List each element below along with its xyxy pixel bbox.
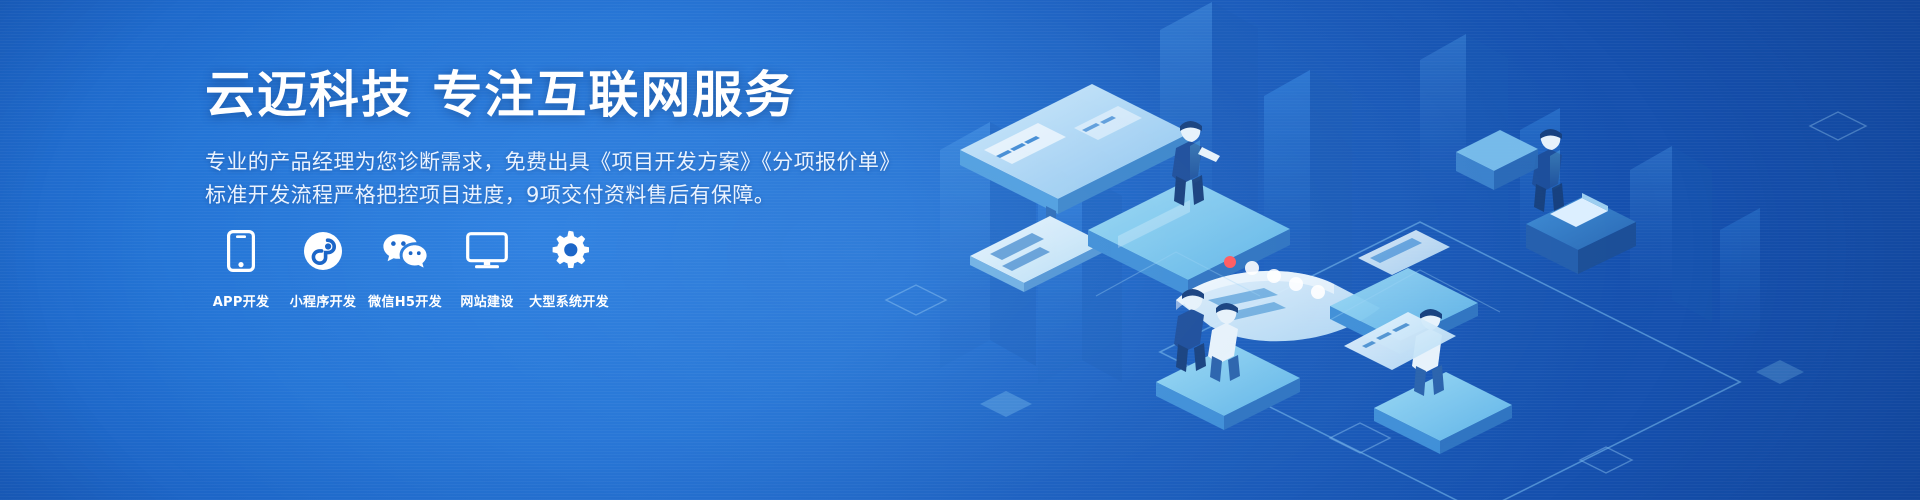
wechat-icon [382, 228, 428, 274]
service-label-mini-program: 小程序开发 [290, 291, 357, 310]
subtitle-line-2: 标准开发流程严格把控项目进度，9项交付资料售后有保障。 [205, 179, 985, 212]
service-label-app: APP开发 [213, 291, 270, 310]
hero-banner: 云迈科技 专注互联网服务 专业的产品经理为您诊断需求，免费出具《项目开发方案》《… [0, 0, 1920, 500]
mobile-phone-icon [218, 228, 264, 274]
banner-title: 云迈科技 专注互联网服务 [205, 66, 985, 125]
monitor-icon [464, 228, 510, 274]
service-label-large-system: 大型系统开发 [529, 291, 609, 310]
service-list: APP开发 小程序开发 [205, 228, 615, 310]
service-item-mini-program[interactable]: 小程序开发 [287, 228, 359, 310]
gear-icon [546, 228, 592, 274]
subtitle-line-1: 专业的产品经理为您诊断需求，免费出具《项目开发方案》《分项报价单》 [205, 146, 985, 179]
service-label-wechat-h5: 微信H5开发 [368, 291, 442, 310]
service-item-large-system[interactable]: 大型系统开发 [533, 228, 605, 310]
service-label-website: 网站建设 [460, 291, 513, 310]
service-item-app[interactable]: APP开发 [205, 228, 277, 310]
service-item-website[interactable]: 网站建设 [451, 228, 523, 310]
service-item-wechat-h5[interactable]: 微信H5开发 [369, 228, 441, 310]
banner-copy: 云迈科技 专注互联网服务 专业的产品经理为您诊断需求，免费出具《项目开发方案》《… [205, 66, 985, 212]
banner-subtitle: 专业的产品经理为您诊断需求，免费出具《项目开发方案》《分项报价单》 标准开发流程… [205, 146, 985, 212]
mini-program-icon [300, 228, 346, 274]
illustration-isometric-tech [860, 0, 1920, 500]
